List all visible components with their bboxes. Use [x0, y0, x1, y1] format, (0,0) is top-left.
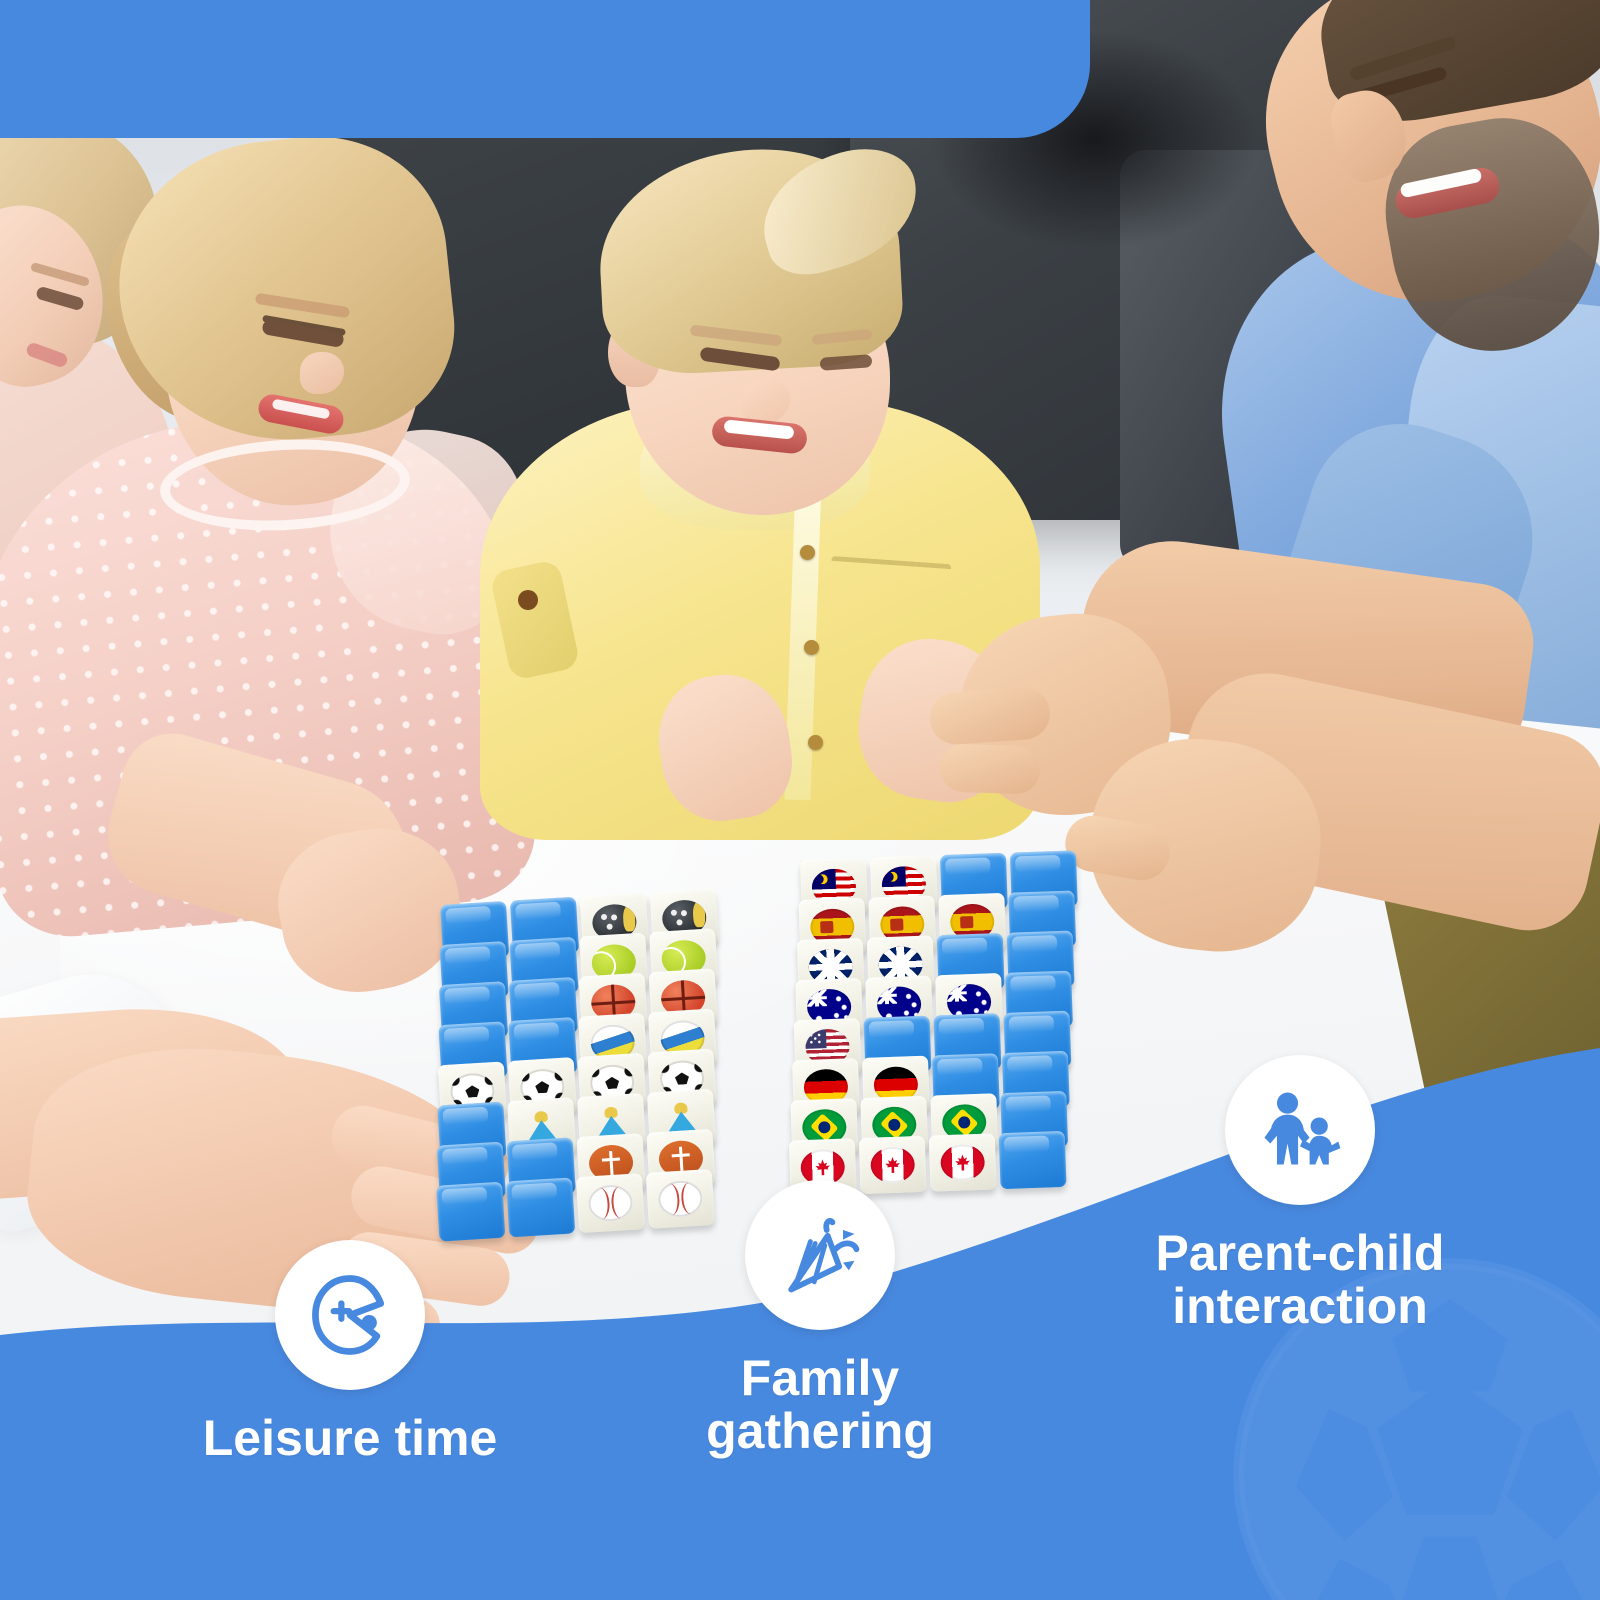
game-controller-icon: [275, 1240, 425, 1390]
boy-shirt-button: [800, 545, 815, 560]
party-popper-icon: [745, 1180, 895, 1330]
feature-label: Leisure time: [150, 1412, 550, 1465]
canada-icon: [940, 1144, 985, 1182]
boy-shirt-button: [804, 640, 819, 655]
feature-parent-child[interactable]: Parent-child interaction: [1065, 1055, 1535, 1332]
bowling-pin-icon: [692, 901, 706, 928]
father-finger: [928, 686, 1051, 746]
parent-child-icon: [1225, 1055, 1375, 1205]
boy-shirt-pocket: [829, 556, 952, 609]
boy-cuff-button: [518, 590, 538, 610]
header-banner: [0, 0, 1090, 138]
product-marketing-image: Fit the scene Leisure time Family gather…: [0, 0, 1600, 1600]
feature-label: Parent-child interaction: [1065, 1227, 1535, 1332]
feature-label: Family gathering: [620, 1352, 1020, 1457]
father-finger: [939, 743, 1041, 794]
feature-leisure-time[interactable]: Leisure time: [150, 1240, 550, 1465]
bowling-pin-icon: [622, 905, 636, 932]
game-tile-back[interactable]: [436, 1182, 505, 1242]
canada-icon: [870, 1146, 915, 1184]
game-tile-back[interactable]: [506, 1177, 575, 1237]
feature-family-gathering[interactable]: Family gathering: [620, 1180, 1020, 1457]
boy-shirt-button: [808, 735, 823, 750]
